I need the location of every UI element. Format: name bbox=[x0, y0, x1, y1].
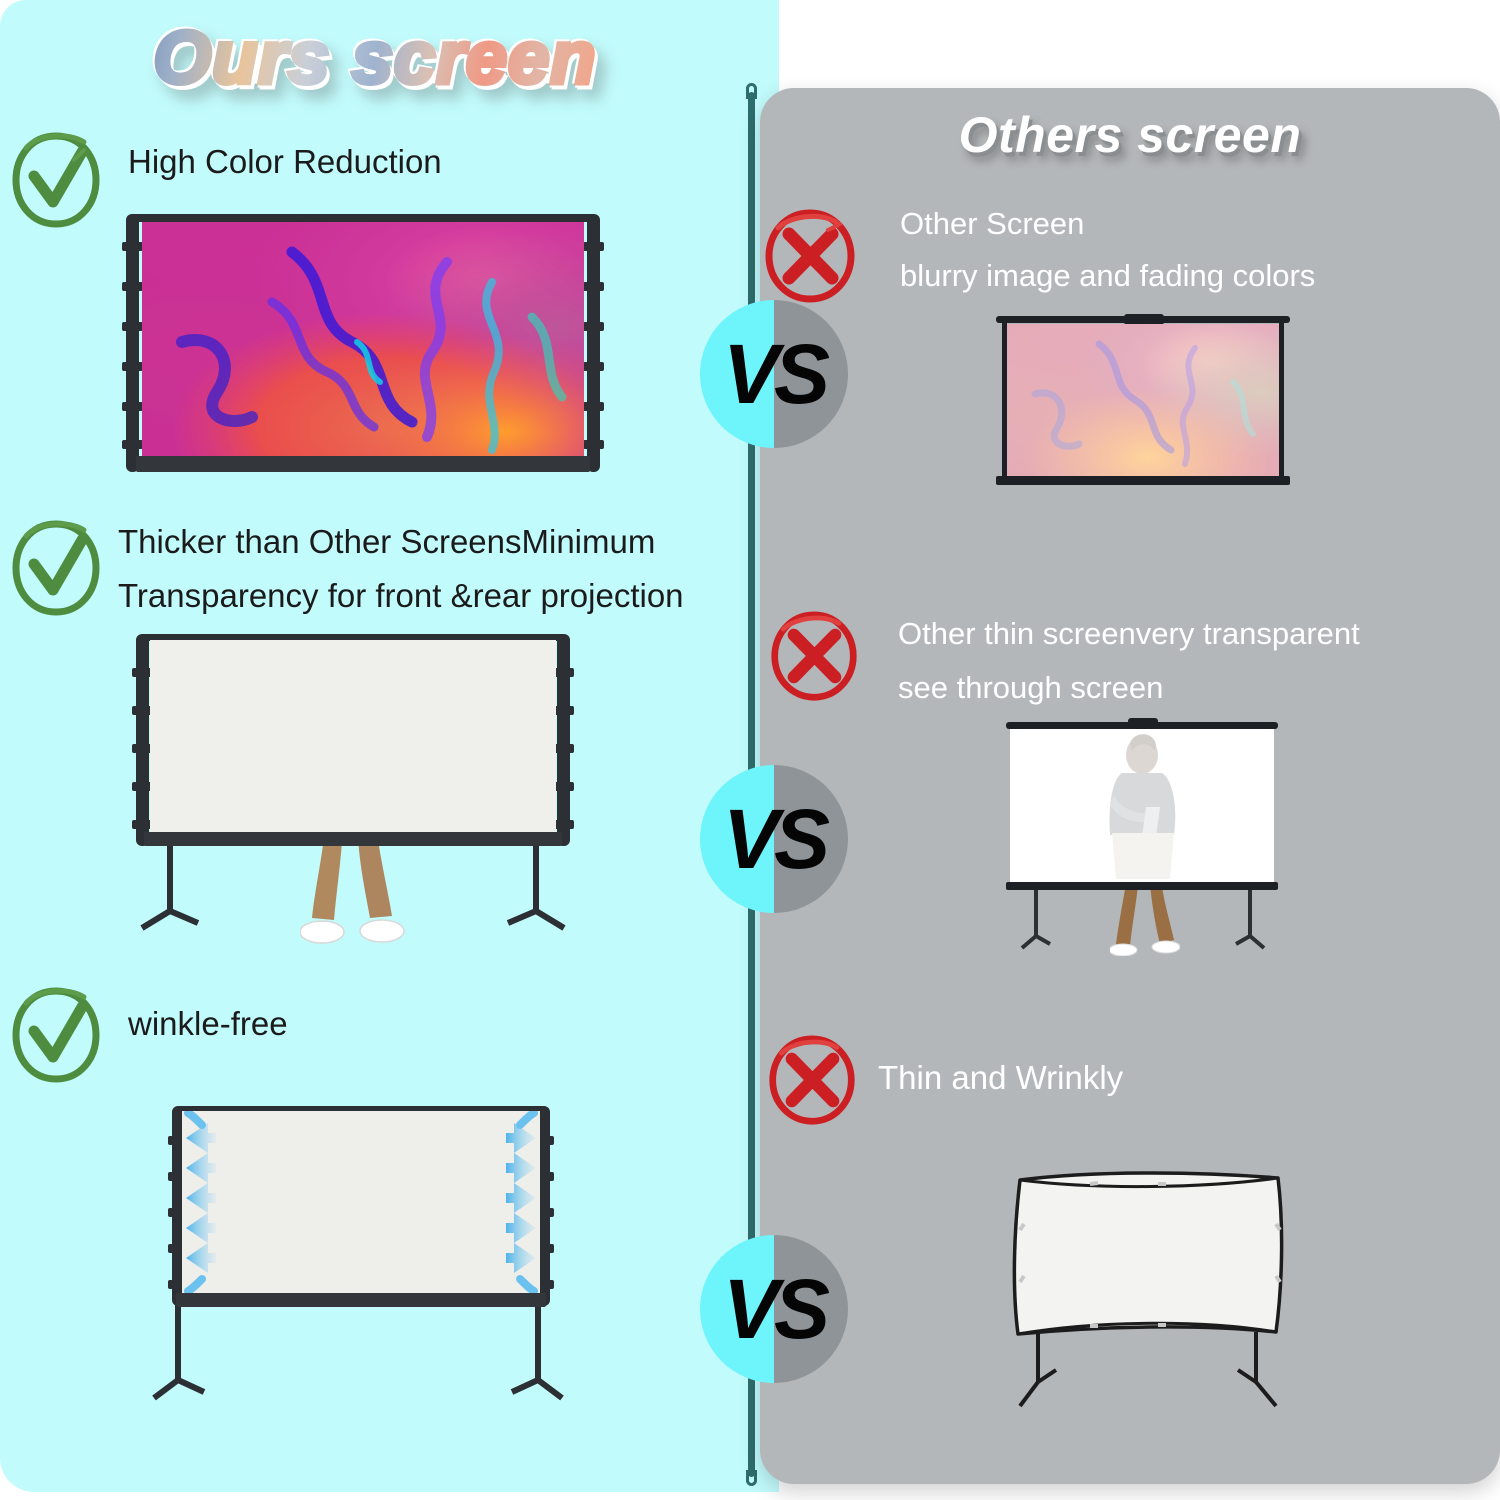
screen-canvas-transparent bbox=[1010, 729, 1274, 882]
person-ghost-through-screen bbox=[1010, 729, 1274, 882]
ours-wrinklefree-screen bbox=[146, 1100, 576, 1420]
vs-badge-label: VS bbox=[700, 765, 848, 913]
ours-feature-3-label: winkle-free bbox=[128, 1000, 288, 1047]
others-faded-screen bbox=[996, 316, 1290, 494]
check-circle-icon bbox=[8, 130, 104, 230]
vs-badge-label: VS bbox=[700, 300, 848, 448]
vs-badge-label: VS bbox=[700, 1235, 848, 1383]
ours-opaque-screen bbox=[128, 628, 578, 948]
check-circle-icon bbox=[8, 518, 104, 618]
vs-badge: VS bbox=[700, 300, 848, 448]
screen-rail-right bbox=[557, 634, 570, 846]
others-feature-1-line1: Other Screen bbox=[900, 198, 1084, 249]
others-feature-3-label: Thin and Wrinkly bbox=[878, 1052, 1123, 1103]
tension-arrows bbox=[182, 1111, 540, 1293]
others-wrinkly-screen bbox=[990, 1168, 1310, 1418]
vs-badge: VS bbox=[700, 765, 848, 913]
ours-feature-2-line2: Transparency for front &rear projection bbox=[118, 572, 684, 619]
check-circle-icon bbox=[8, 985, 104, 1085]
others-feature-2-line1: Other thin screenvery transparent bbox=[898, 608, 1360, 659]
screen-canvas-vivid bbox=[142, 222, 584, 460]
screen-canvas-white bbox=[150, 640, 556, 832]
ours-title: Ours screen bbox=[105, 16, 645, 100]
screen-rail-left bbox=[126, 214, 139, 472]
screen-canvas-faded bbox=[1007, 324, 1279, 476]
screen-rail-right bbox=[587, 214, 600, 472]
wrinkly-screen-shape bbox=[990, 1168, 1310, 1418]
ours-feature-2-line1: Thicker than Other ScreensMinimum bbox=[118, 518, 655, 565]
comparison-infographic: Ours screen High Color Reduction bbox=[0, 0, 1500, 1500]
others-feature-1-line2: blurry image and fading colors bbox=[900, 250, 1315, 301]
cross-circle-icon bbox=[762, 208, 858, 304]
others-seethrough-screen bbox=[988, 714, 1296, 954]
screen-rail-left bbox=[136, 634, 149, 846]
person-legs-visible bbox=[1110, 884, 1180, 956]
screen-canvas-tension bbox=[182, 1111, 540, 1293]
ours-feature-1-label: High Color Reduction bbox=[128, 138, 442, 185]
cross-circle-icon bbox=[766, 1034, 858, 1126]
vs-badge: VS bbox=[700, 1235, 848, 1383]
ours-color-screen bbox=[126, 208, 600, 480]
screen-edge-right bbox=[1279, 323, 1284, 477]
cross-circle-icon bbox=[768, 610, 860, 702]
person-legs-behind-screen bbox=[300, 838, 410, 948]
others-feature-2-line2: see through screen bbox=[898, 662, 1163, 713]
others-title: Others screen bbox=[900, 104, 1360, 166]
